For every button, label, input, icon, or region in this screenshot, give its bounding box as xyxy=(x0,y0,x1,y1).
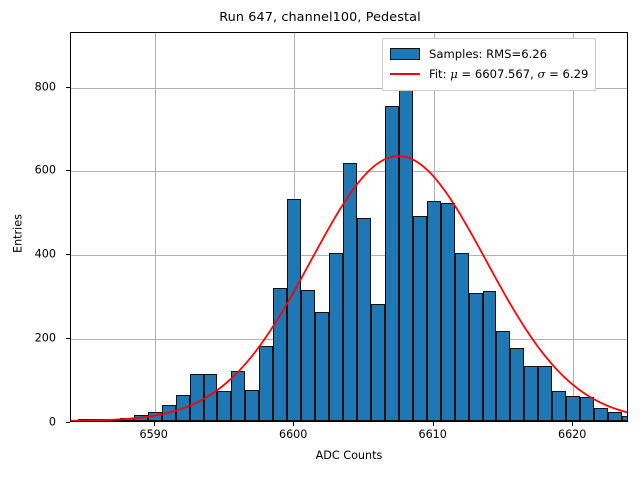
histogram-bar xyxy=(259,346,273,421)
histogram-bar xyxy=(524,366,538,421)
y-axis-tick-label: 800 xyxy=(0,80,56,93)
histogram-bar xyxy=(496,331,510,421)
y-axis-tick-label: 200 xyxy=(0,332,56,345)
histogram-bar xyxy=(580,397,594,421)
x-axis-tick-mark xyxy=(572,422,573,426)
y-axis-tick-mark xyxy=(66,254,70,255)
histogram-bar xyxy=(92,419,106,421)
histogram-bar xyxy=(510,348,524,421)
legend-fit-sigma-value: = 6.29 xyxy=(545,67,588,81)
chart-legend: Samples: RMS=6.26 Fit: μ = 6607.567, σ =… xyxy=(382,38,596,91)
histogram-bar xyxy=(385,106,399,421)
x-axis-label: ADC Counts xyxy=(70,449,628,462)
histogram-bar xyxy=(287,199,301,421)
legend-line-icon xyxy=(390,68,420,80)
histogram-bar xyxy=(455,253,469,421)
legend-label-fit: Fit: μ = 6607.567, σ = 6.29 xyxy=(429,67,588,81)
x-axis-tick-label: 6590 xyxy=(139,428,167,441)
histogram-bar xyxy=(427,201,441,421)
histogram-bar xyxy=(217,391,231,421)
chart-title: Run 647, channel100, Pedestal xyxy=(0,10,640,25)
histogram-bar xyxy=(622,416,628,421)
x-axis-tick-mark xyxy=(433,422,434,426)
gridline-vertical xyxy=(573,33,574,421)
legend-entry-fit: Fit: μ = 6607.567, σ = 6.29 xyxy=(390,64,588,84)
x-axis-tick-label: 6600 xyxy=(279,428,307,441)
histogram-bar xyxy=(78,419,92,421)
histogram-bar xyxy=(315,312,329,421)
y-axis-tick-label: 0 xyxy=(0,416,56,429)
histogram-bar xyxy=(399,67,413,421)
x-axis-tick-label: 6620 xyxy=(558,428,586,441)
histogram-bar xyxy=(371,304,385,421)
legend-entry-samples: Samples: RMS=6.26 xyxy=(390,44,588,64)
histogram-bar xyxy=(343,163,357,421)
histogram-bar xyxy=(106,419,120,421)
y-axis-tick-mark xyxy=(66,87,70,88)
histogram-bar xyxy=(273,288,287,421)
histogram-bar xyxy=(357,218,371,421)
histogram-bar xyxy=(566,396,580,421)
legend-fit-prefix: Fit: xyxy=(429,67,450,81)
histogram-bar xyxy=(538,366,552,421)
y-axis-tick-mark xyxy=(66,338,70,339)
y-axis-tick-mark xyxy=(66,422,70,423)
histogram-bar xyxy=(301,290,315,421)
legend-patch-icon xyxy=(390,48,420,60)
histogram-bar xyxy=(608,412,622,421)
x-axis-tick-mark xyxy=(293,422,294,426)
x-axis-tick-mark xyxy=(154,422,155,426)
histogram-bar xyxy=(231,371,245,421)
legend-label-samples: Samples: RMS=6.26 xyxy=(429,47,547,61)
histogram-bar xyxy=(413,216,427,421)
histogram-bar xyxy=(148,412,162,421)
histogram-bar xyxy=(245,390,259,421)
gridline-vertical xyxy=(155,33,156,421)
histogram-bar xyxy=(552,391,566,421)
histogram-bar xyxy=(594,408,608,421)
histogram-bar xyxy=(483,291,497,421)
histogram-bar xyxy=(190,374,204,421)
histogram-bar xyxy=(469,293,483,421)
histogram-bar xyxy=(441,203,455,421)
x-axis-tick-label: 6610 xyxy=(418,428,446,441)
legend-fit-mu-symbol: μ xyxy=(450,67,458,81)
matplotlib-figure: Run 647, channel100, Pedestal 0200400600… xyxy=(0,0,640,480)
histogram-bar xyxy=(162,405,176,421)
y-axis-tick-label: 600 xyxy=(0,164,56,177)
legend-fit-mu-value: = 6607.567, xyxy=(458,67,538,81)
y-axis-tick-label: 400 xyxy=(0,248,56,261)
histogram-bar xyxy=(329,253,343,421)
histogram-bar xyxy=(134,415,148,421)
histogram-bar xyxy=(176,395,190,421)
y-axis-label: Entries xyxy=(12,154,25,314)
histogram-bar xyxy=(120,418,134,421)
histogram-bar xyxy=(204,374,218,421)
y-axis-tick-mark xyxy=(66,170,70,171)
